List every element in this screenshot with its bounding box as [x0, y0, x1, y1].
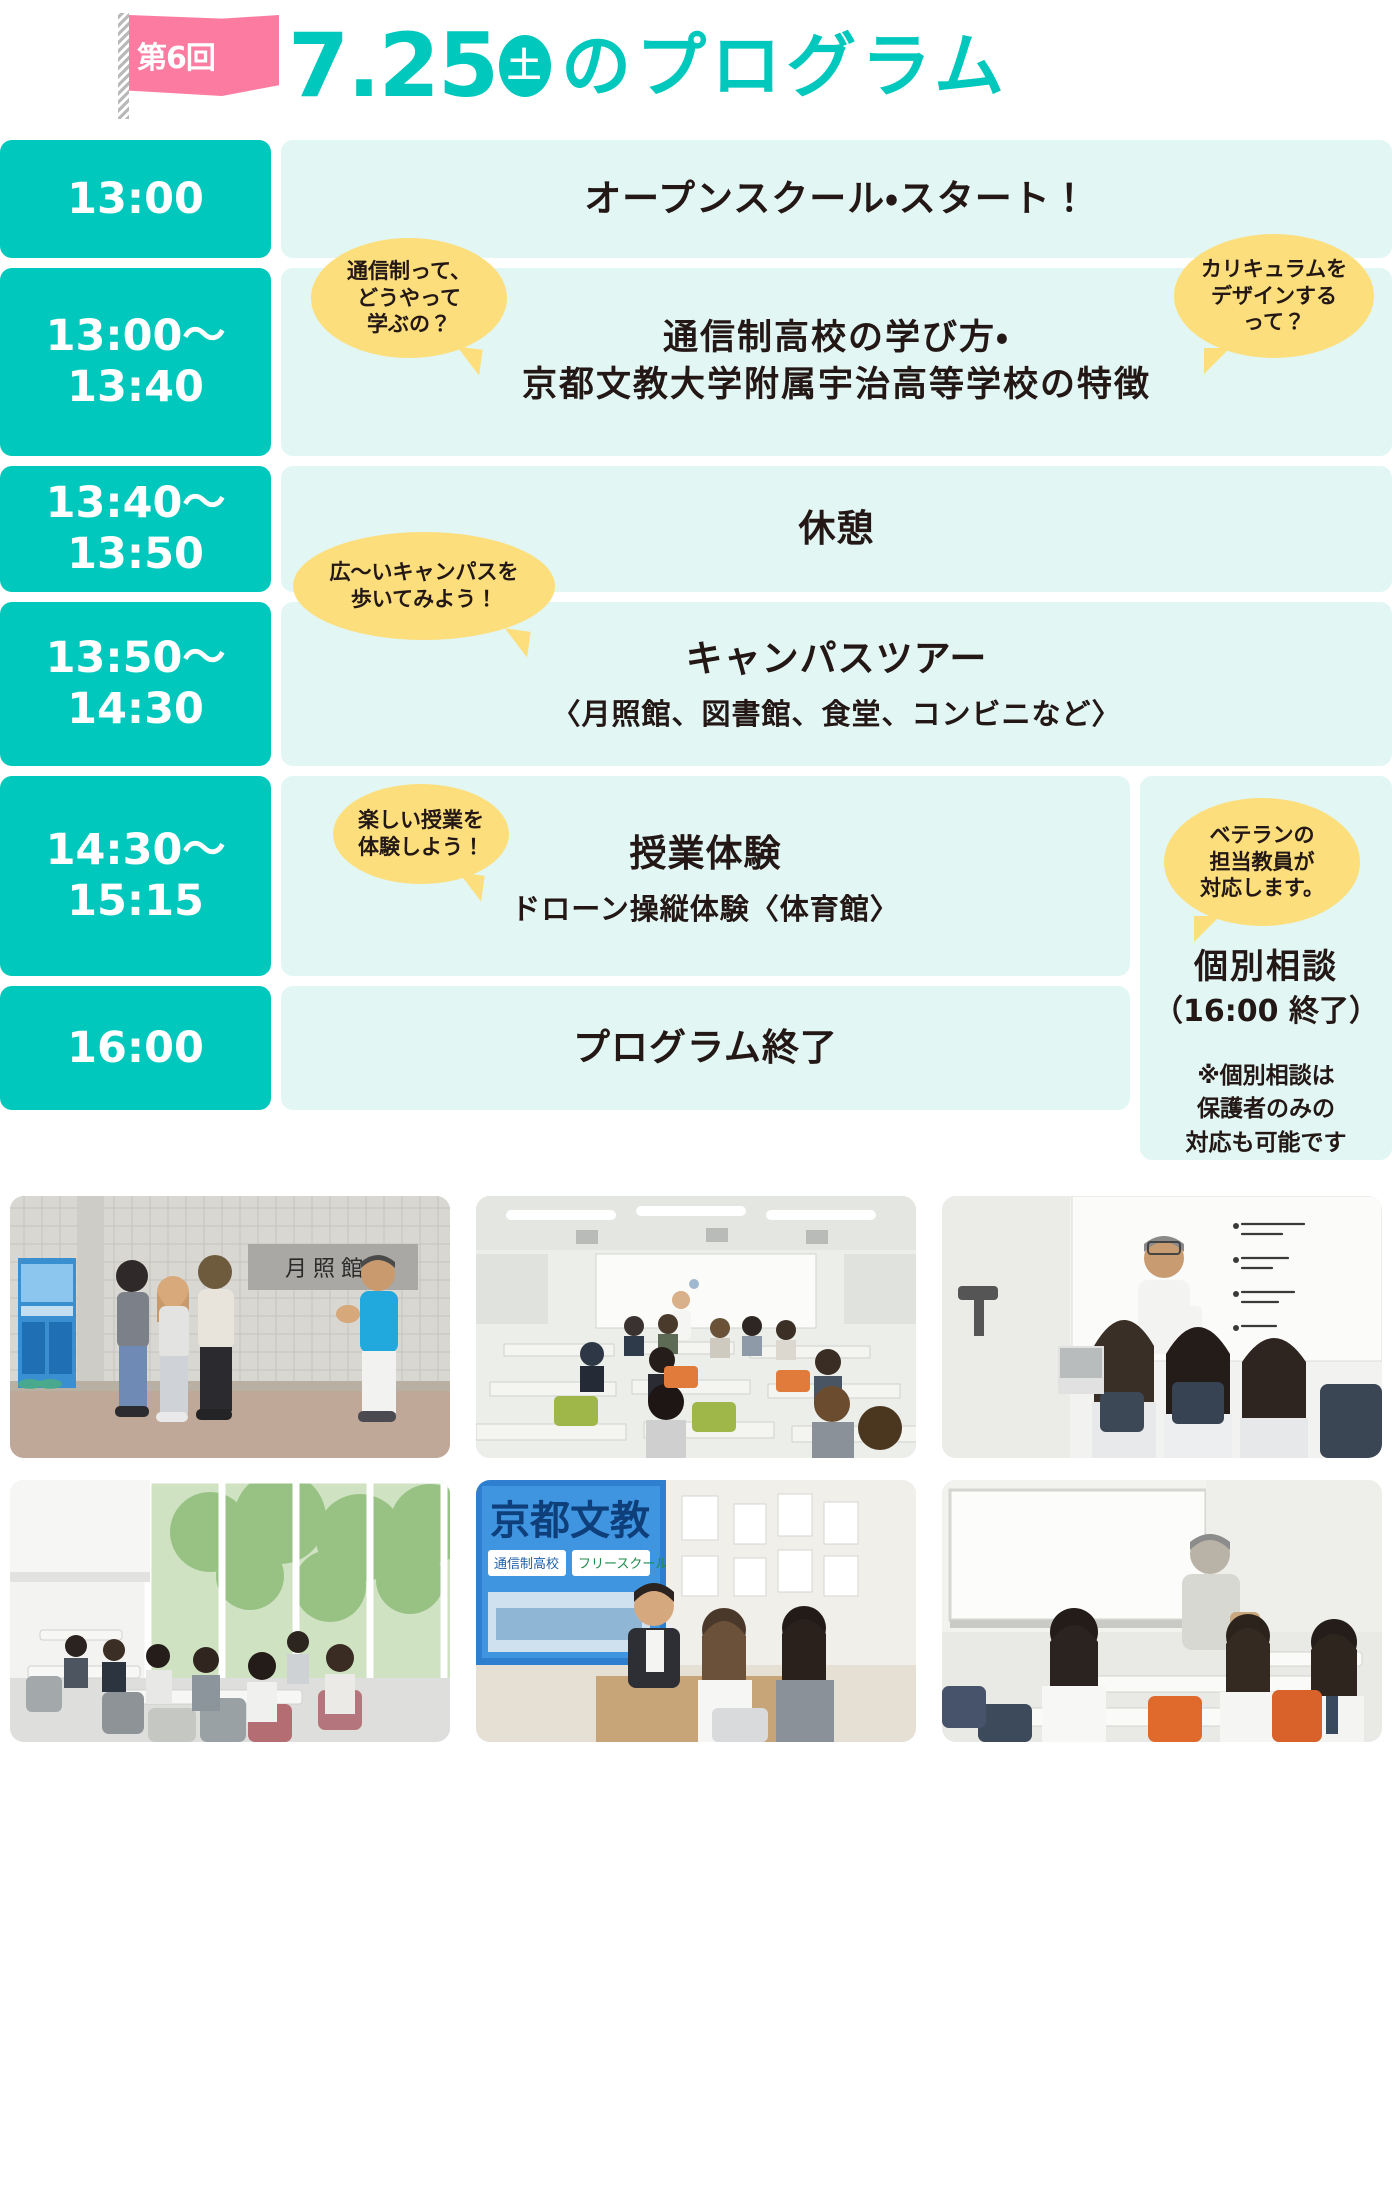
- program-page: 第6回 7.25 土 のプログラム 13:00 オープンスクール・スタート！ 1…: [0, 0, 1392, 2196]
- schedule-row: 16:00 プログラム終了: [0, 986, 1130, 1110]
- content-cell: 広〜いキャンパスを 歩いてみよう！ キャンパスツアー 〈月照館、図書館、食堂、コ…: [281, 602, 1392, 766]
- time-label-end: 14:30: [67, 684, 204, 735]
- photo-campus-entrance-image: 月照館: [10, 1196, 450, 1458]
- activity-title-line2: 京都文教大学附属宇治高等学校の特徴: [522, 362, 1151, 409]
- flag-pole-icon: [118, 13, 129, 119]
- time-label-end: 13:50: [67, 529, 204, 580]
- photo-classroom-guidance: [942, 1480, 1382, 1742]
- svg-text:通信制高校: 通信制高校: [494, 1556, 559, 1572]
- edition-label: 第6回: [137, 44, 215, 74]
- consultation-note: ※個別相談は 保護者のみの 対応も可能です: [1186, 1060, 1347, 1160]
- speech-bubble-veteran: ベテランの 担当教員が 対応します。: [1164, 798, 1360, 926]
- activity-title: キャンパスツアー: [686, 634, 988, 684]
- edition-flag-badge: 第6回: [118, 11, 282, 121]
- schedule-table: 13:00 オープンスクール・スタート！ 13:00〜 13:40 通信制って、…: [0, 140, 1392, 1160]
- svg-text:京都文教: 京都文教: [490, 1498, 650, 1544]
- photo-classroom-lecture: [476, 1196, 916, 1458]
- time-label: 14:30〜: [46, 825, 226, 876]
- speech-bubble-campus: 広〜いキャンパスを 歩いてみよう！: [293, 532, 555, 640]
- photo-individual-consultation-image: 京都文教 通信制高校 フリースクール: [476, 1480, 916, 1742]
- time-cell: 16:00: [0, 986, 271, 1110]
- title-suffix: のプログラム: [561, 31, 1009, 101]
- time-label: 13:00〜: [46, 311, 226, 362]
- time-cell: 13:00: [0, 140, 271, 258]
- time-label: 13:50〜: [46, 633, 226, 684]
- content-cell: 通信制って、 どうやって 学ぶの？ カリキュラムを デザインする って？ 通信制…: [281, 268, 1392, 456]
- time-cell: 13:00〜 13:40: [0, 268, 271, 456]
- schedule-row: 13:50〜 14:30 広〜いキャンパスを 歩いてみよう！ キャンパスツアー …: [0, 602, 1392, 766]
- time-cell: 13:50〜 14:30: [0, 602, 271, 766]
- consultation-endtime: （16:00 終了）: [1153, 993, 1379, 1031]
- schedule-row: 13:00 オープンスクール・スタート！: [0, 140, 1392, 258]
- speech-bubble-correspondence: 通信制って、 どうやって 学ぶの？: [311, 238, 507, 358]
- schedule-row: 14:30〜 15:15 楽しい授業を 体験しよう！ 授業体験 ドローン操縦体験…: [0, 776, 1130, 976]
- activity-subtitle: 〈月照館、図書館、食堂、コンビニなど〉: [551, 694, 1121, 735]
- photo-cafeteria-group-image: [10, 1480, 450, 1742]
- activity-title: 休憩: [799, 504, 875, 554]
- activity-title: オープンスクール・スタート！: [584, 174, 1089, 224]
- page-header: 第6回 7.25 土 のプログラム: [0, 0, 1392, 132]
- time-label-end: 13:40: [67, 362, 204, 413]
- program-date: 7.25: [288, 22, 497, 110]
- time-label: 13:40〜: [46, 478, 226, 529]
- consultation-title: 個別相談: [1194, 946, 1338, 989]
- flag-banner: 第6回: [129, 15, 279, 105]
- photo-gallery: 月照館: [0, 1196, 1392, 1742]
- consultation-panel: ベテランの 担当教員が 対応します。 個別相談 （16:00 終了） ※個別相談…: [1140, 776, 1392, 1160]
- schedule-row: 13:40〜 13:50 休憩: [0, 466, 1392, 592]
- speech-bubble-lesson: 楽しい授業を 体験しよう！: [333, 784, 509, 884]
- activity-title: 通信制高校の学び方・: [663, 315, 1010, 362]
- photo-whiteboard-lecture-image: [942, 1196, 1382, 1458]
- activity-title: 授業体験: [630, 829, 782, 879]
- svg-text:月照館: 月照館: [285, 1257, 369, 1282]
- time-label-end: 15:15: [67, 876, 204, 927]
- schedule-row: 13:00〜 13:40 通信制って、 どうやって 学ぶの？ カリキュラムを デ…: [0, 268, 1392, 456]
- photo-whiteboard-lecture: [942, 1196, 1382, 1458]
- photo-cafeteria-group: [10, 1480, 450, 1742]
- time-label: 13:00: [67, 174, 204, 225]
- content-cell: 楽しい授業を 体験しよう！ 授業体験 ドローン操縦体験〈体育館〉: [281, 776, 1130, 976]
- photo-individual-consultation: 京都文教 通信制高校 フリースクール: [476, 1480, 916, 1742]
- time-label: 16:00: [67, 1023, 204, 1074]
- photo-classroom-lecture-image: [476, 1196, 916, 1458]
- schedule-split-section: 14:30〜 15:15 楽しい授業を 体験しよう！ 授業体験 ドローン操縦体験…: [0, 776, 1392, 1160]
- svg-text:フリースクール: フリースクール: [578, 1557, 668, 1572]
- speech-bubble-curriculum: カリキュラムを デザインする って？: [1174, 234, 1374, 358]
- page-title: 7.25 土 のプログラム: [288, 22, 1009, 110]
- time-cell: 14:30〜 15:15: [0, 776, 271, 976]
- photo-campus-entrance: 月照館: [10, 1196, 450, 1458]
- time-cell: 13:40〜 13:50: [0, 466, 271, 592]
- weekday-badge: 土: [499, 35, 551, 97]
- activity-subtitle: ドローン操縦体験〈体育館〉: [511, 889, 900, 930]
- schedule-left-column: 14:30〜 15:15 楽しい授業を 体験しよう！ 授業体験 ドローン操縦体験…: [0, 776, 1130, 1160]
- photo-classroom-guidance-image: [942, 1480, 1382, 1742]
- content-cell: プログラム終了: [281, 986, 1130, 1110]
- activity-title: プログラム終了: [573, 1023, 838, 1073]
- content-cell: オープンスクール・スタート！: [281, 140, 1392, 258]
